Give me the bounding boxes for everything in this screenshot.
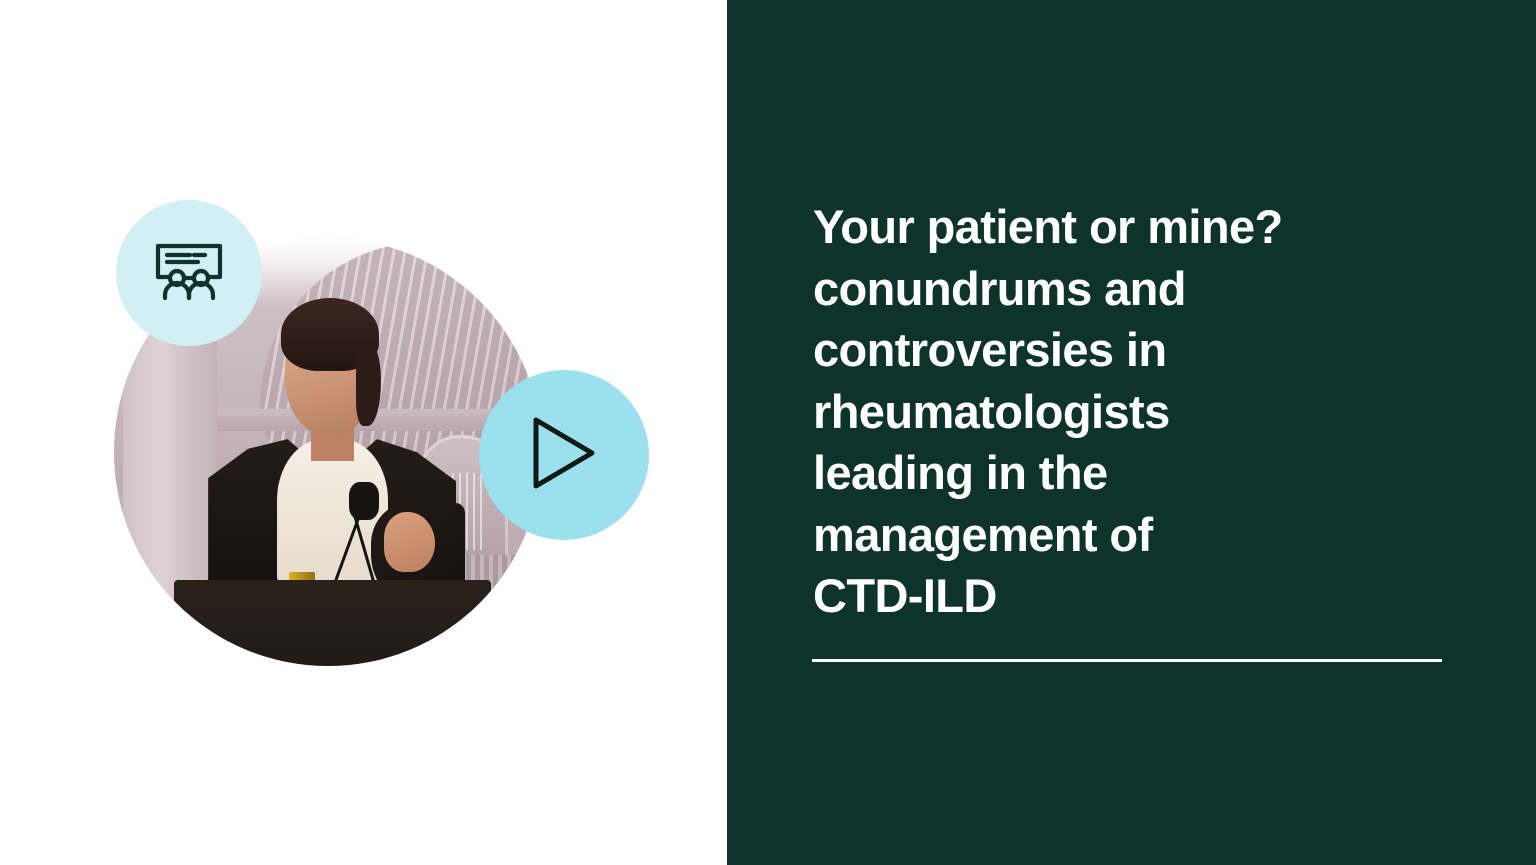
title-pane: Your patient or mine? conundrums and con… xyxy=(727,0,1536,865)
page-title: Your patient or mine? conundrums and con… xyxy=(813,196,1453,627)
media-pane xyxy=(0,0,728,865)
play-triangle-icon xyxy=(528,414,600,497)
presentation-board-icon xyxy=(152,240,226,307)
speaker-hand xyxy=(384,512,435,572)
presentation-badge xyxy=(116,200,262,346)
slide-canvas: Your patient or mine? conundrums and con… xyxy=(0,0,1536,865)
play-button[interactable] xyxy=(479,370,649,540)
title-divider xyxy=(812,659,1442,662)
lectern xyxy=(174,580,491,666)
